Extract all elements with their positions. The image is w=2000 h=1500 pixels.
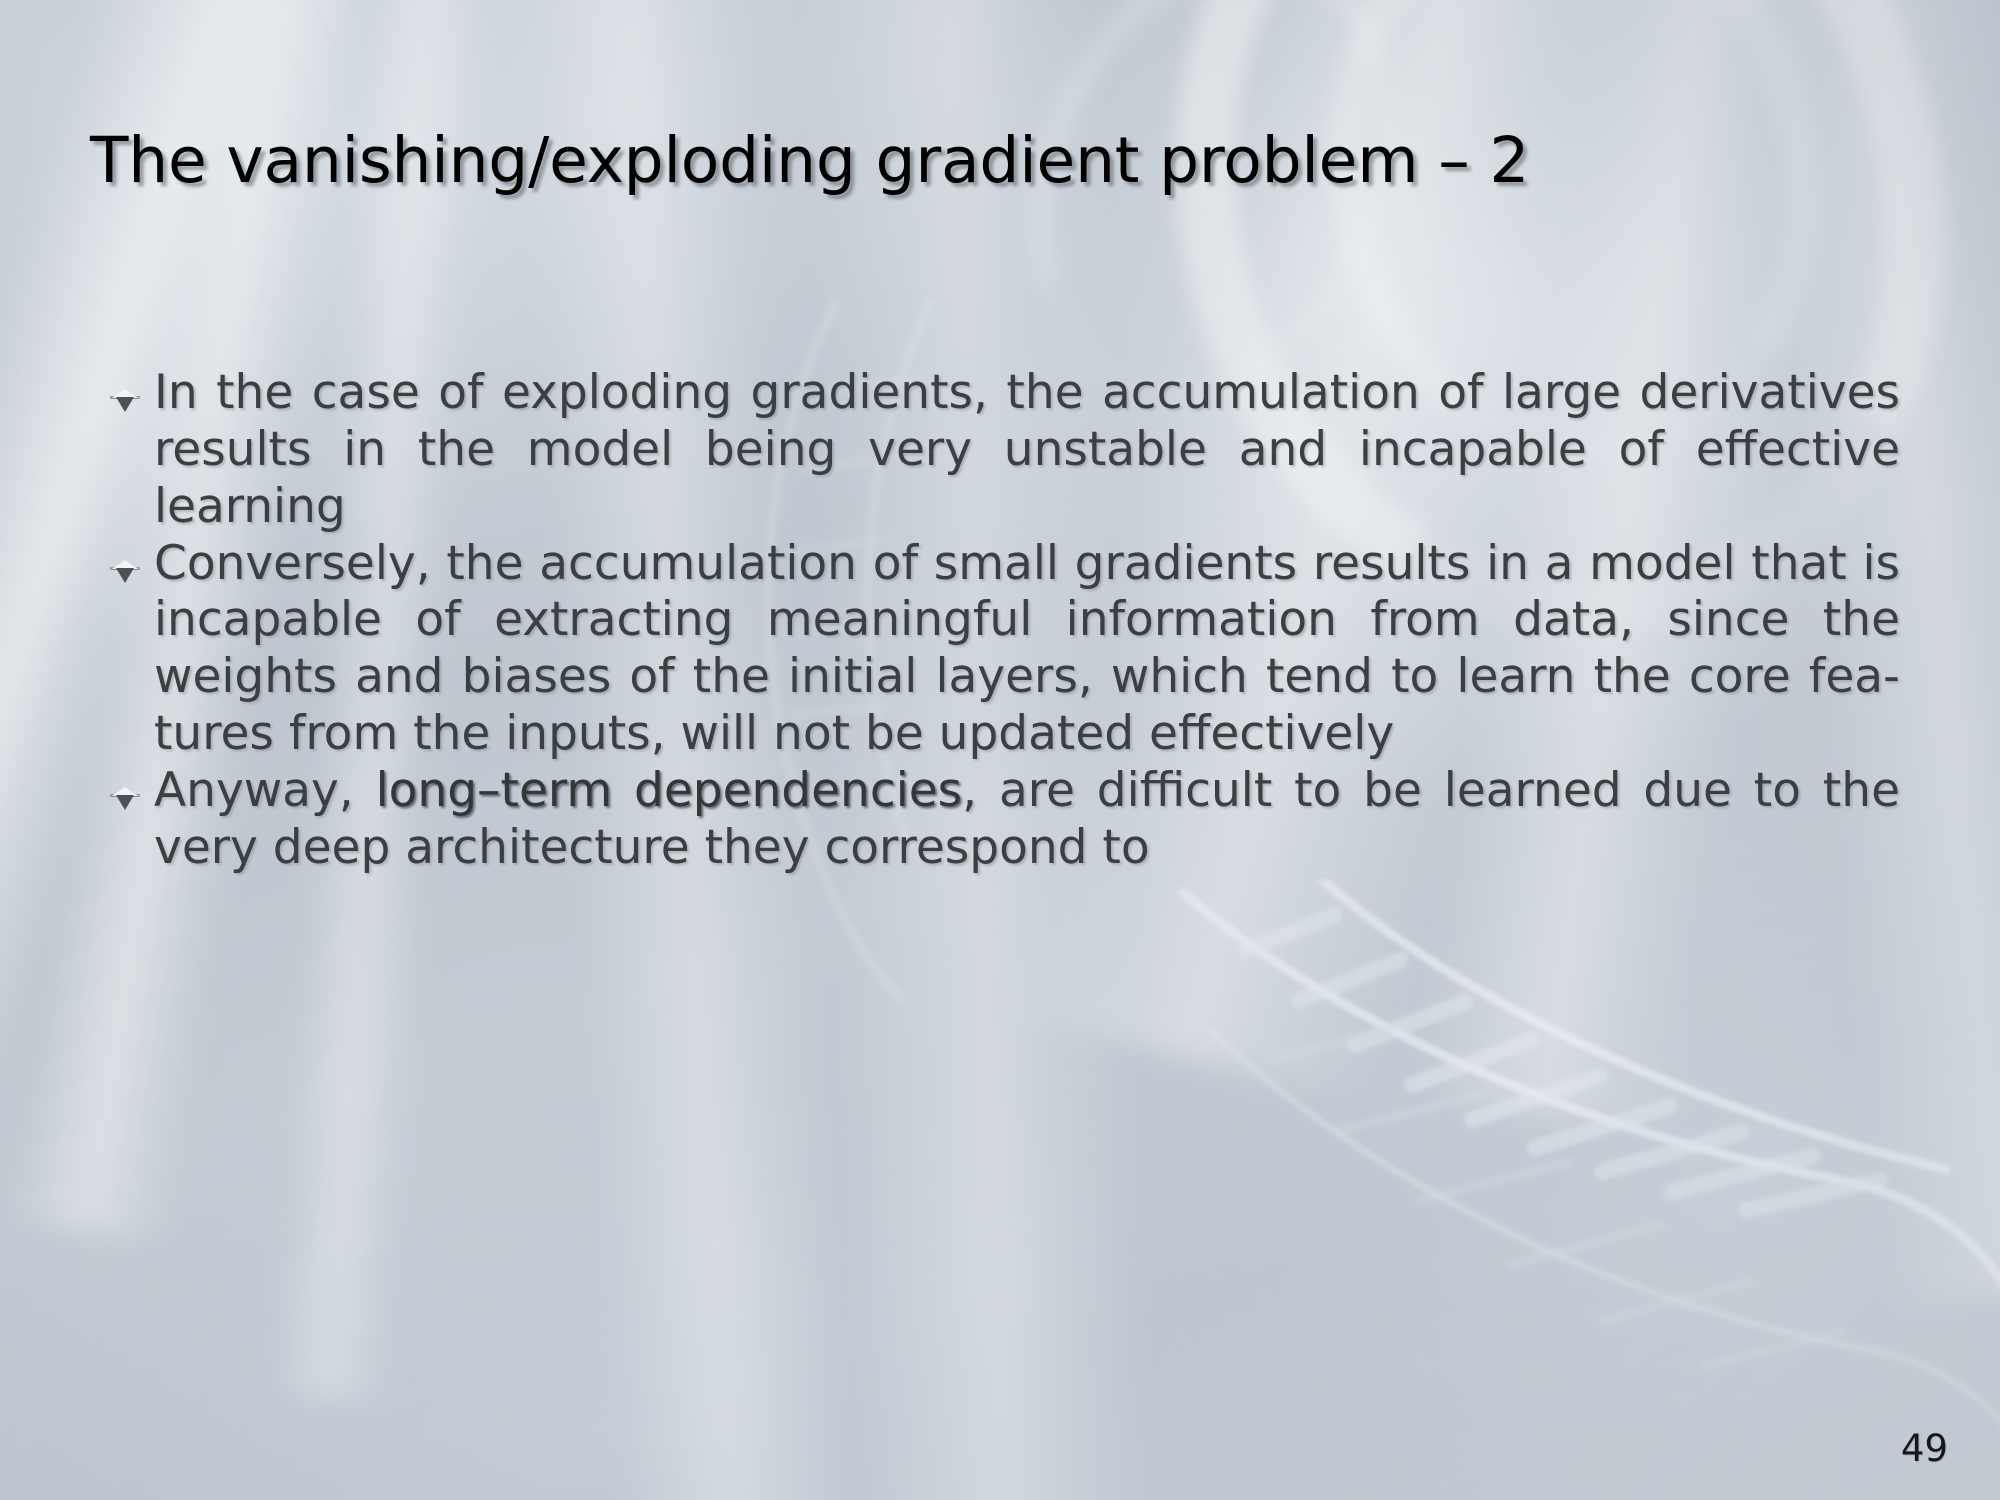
emphasized-term: long–term dependencies <box>376 763 963 818</box>
dart-bullet-icon <box>110 556 140 586</box>
list-item-text: Anyway, long–term dependencies, are diff… <box>154 763 1900 877</box>
page-title: The vanishing/exploding gradient problem… <box>90 128 1940 194</box>
page-number: 49 <box>1901 1427 1948 1470</box>
list-item: Conversely, the accumulation of small gr… <box>110 536 1900 763</box>
dart-bullet-icon <box>110 783 140 813</box>
list-item-text: In the case of exploding gradients, the … <box>154 365 1900 536</box>
list-item-text: Conversely, the accumulation of small gr… <box>154 536 1900 763</box>
list-item-text-prefix: Anyway, <box>154 763 376 818</box>
bullet-list: In the case of exploding gradients, the … <box>110 365 1900 877</box>
list-item: Anyway, long–term dependencies, are diff… <box>110 763 1900 877</box>
slide-content: The vanishing/exploding gradient problem… <box>0 0 2000 1500</box>
presentation-slide: The vanishing/exploding gradient problem… <box>0 0 2000 1500</box>
dart-bullet-icon <box>110 385 140 415</box>
list-item: In the case of exploding gradients, the … <box>110 365 1900 536</box>
